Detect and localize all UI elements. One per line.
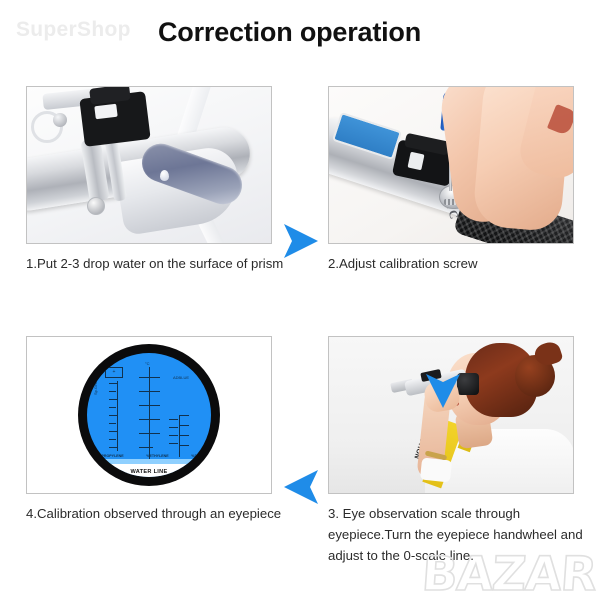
black-clamp xyxy=(79,91,150,147)
step-2-photo: ATC xyxy=(328,86,574,244)
scale-tick xyxy=(169,427,178,428)
step-1-caption: 1.Put 2-3 drop water on the surface of p… xyxy=(26,253,284,274)
clamp-notch xyxy=(94,104,117,120)
sg-label: %SG xyxy=(191,454,199,458)
water-drop-icon xyxy=(160,170,169,181)
scale-tick xyxy=(180,415,189,416)
scale-tick xyxy=(109,447,118,448)
supershop-watermark: SuperShop xyxy=(16,18,131,42)
knurled-knob xyxy=(53,113,67,127)
scale-tick xyxy=(109,391,116,392)
step-4-photo: °C + Sp.GRAVITY/ BATTERY FLUID ADBLUE %P… xyxy=(26,336,272,494)
arrow-down-icon xyxy=(422,372,464,410)
ethylene-label: %ETHYLENE xyxy=(146,454,168,458)
step-1-photo xyxy=(26,86,272,244)
step-4-caption: 4.Calibration observed through an eyepie… xyxy=(26,503,284,524)
bazar-watermark: BAZAR xyxy=(421,551,598,598)
step-3-photo: CAUTION xyxy=(328,336,574,494)
page-title: Correction operation xyxy=(158,17,421,48)
scale-tick xyxy=(109,407,116,408)
scale-tick xyxy=(109,415,118,416)
scale-tick xyxy=(150,391,160,392)
scale-tick xyxy=(109,423,116,424)
scale-tick xyxy=(180,445,189,446)
arrow-right-icon xyxy=(282,220,320,262)
scale-tick xyxy=(139,377,149,378)
scale-axis-center xyxy=(149,367,150,459)
scale-tick xyxy=(150,405,160,406)
scale-tick xyxy=(169,435,178,436)
plus-box-icon: + xyxy=(105,367,123,378)
scale-tick xyxy=(109,431,118,432)
scale-tick xyxy=(109,439,116,440)
scale-tick xyxy=(109,399,118,400)
adblue-scale-label: ADBLUE xyxy=(173,375,189,380)
body-screw-icon xyxy=(87,197,105,215)
sleeve-cuff xyxy=(420,457,452,482)
scale-tick xyxy=(169,443,178,444)
step-4-cell: °C + Sp.GRAVITY/ BATTERY FLUID ADBLUE %P… xyxy=(26,336,284,524)
scale-field: °C + Sp.GRAVITY/ BATTERY FLUID ADBLUE %P… xyxy=(87,353,211,477)
scale-tick xyxy=(139,391,149,392)
scale-tick xyxy=(109,383,118,384)
propylene-label: %PROPYLENE xyxy=(98,454,123,458)
scale-axis-left xyxy=(117,381,118,451)
scale-tick xyxy=(139,433,149,434)
scale-tick xyxy=(150,433,160,434)
scale-tick xyxy=(180,435,189,436)
instruction-infographic: SuperShop Correction operation 1.Put xyxy=(0,0,600,600)
scale-tick xyxy=(139,419,149,420)
celsius-label: °C xyxy=(145,361,150,366)
scale-tick xyxy=(150,419,160,420)
step-1-cell: 1.Put 2-3 drop water on the surface of p… xyxy=(26,86,284,274)
scale-tick xyxy=(139,447,153,448)
eyepiece-bezel: °C + Sp.GRAVITY/ BATTERY FLUID ADBLUE %P… xyxy=(78,344,220,486)
step-2-caption: 2.Adjust calibration screw xyxy=(328,253,586,274)
arrow-left-icon xyxy=(282,466,320,508)
scale-tick xyxy=(169,419,178,420)
waterline-label: WATER LINE xyxy=(87,469,211,475)
scale-tick xyxy=(150,377,160,378)
scale-axis-right xyxy=(179,415,180,457)
step-3-cell: CAUTION 3. Eye observation scale through… xyxy=(328,336,600,566)
scale-tick xyxy=(180,425,189,426)
gravity-axis-label: Sp.GRAVITY/ BATTERY FLUID xyxy=(93,353,98,395)
scale-tick xyxy=(139,405,149,406)
scale-foot-labels: %PROPYLENE %ETHYLENE %SG xyxy=(87,454,211,458)
steps-grid: 1.Put 2-3 drop water on the surface of p… xyxy=(0,80,600,580)
step-2-cell: ATC 2.Adjust calibration screw xyxy=(328,86,586,274)
